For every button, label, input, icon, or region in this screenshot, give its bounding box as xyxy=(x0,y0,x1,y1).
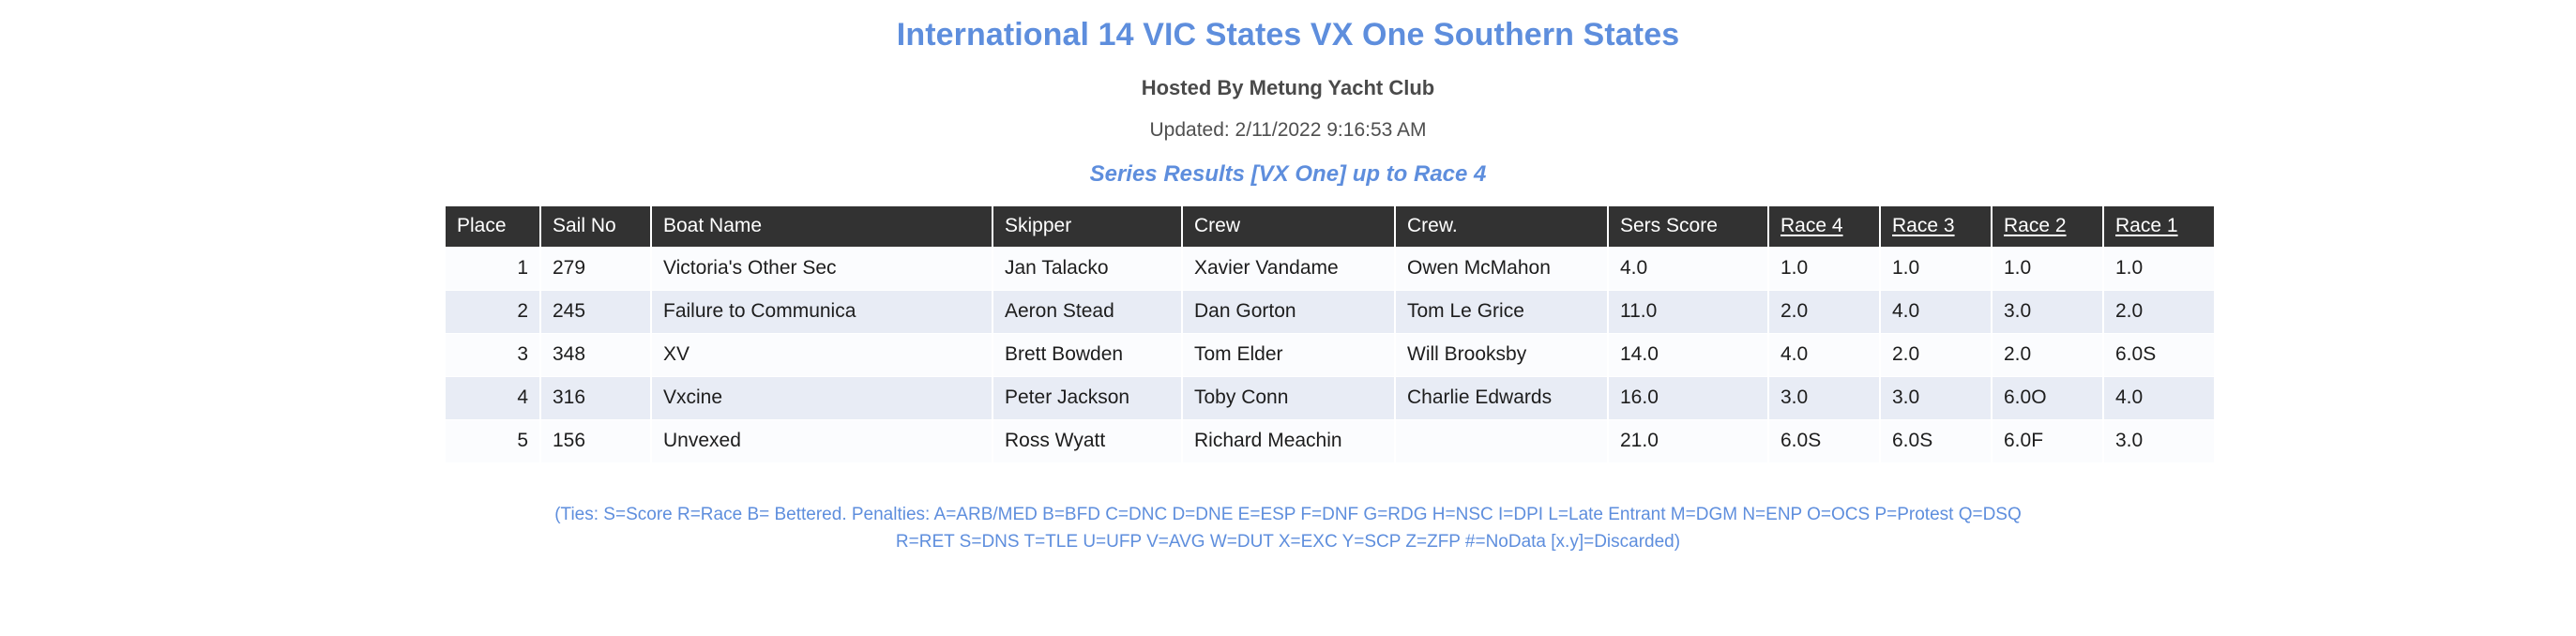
updated-timestamp: Updated: 2/11/2022 9:16:53 AM xyxy=(0,100,2576,142)
cell-race-4: 6.0S xyxy=(1769,420,1879,462)
column-header-skipper-label: Skipper xyxy=(1005,215,1071,236)
cell-race-3: 6.0S xyxy=(1881,420,1991,462)
cell-race-1: 2.0 xyxy=(2104,291,2214,333)
table-row: 2 245 Failure to Communica Aeron Stead D… xyxy=(446,291,2214,333)
cell-place: 5 xyxy=(446,420,539,462)
cell-race-3: 4.0 xyxy=(1881,291,1991,333)
column-header-crew2-label: Crew. xyxy=(1407,215,1458,236)
cell-race-1: 6.0S xyxy=(2104,334,2214,376)
host-club-line: Hosted By Metung Yacht Club xyxy=(0,55,2576,100)
cell-sers-score: 14.0 xyxy=(1609,334,1767,376)
cell-sail-no: 279 xyxy=(541,248,650,290)
column-header-skipper: Skipper xyxy=(993,206,1181,247)
cell-boat-name: Failure to Communica xyxy=(652,291,992,333)
column-header-race-1[interactable]: Race 1 xyxy=(2104,206,2214,247)
cell-race-1: 3.0 xyxy=(2104,420,2214,462)
cell-skipper: Brett Bowden xyxy=(993,334,1181,376)
column-header-sail-no: Sail No xyxy=(541,206,650,247)
cell-race-3: 3.0 xyxy=(1881,377,1991,419)
column-header-crew2: Crew. xyxy=(1396,206,1607,247)
cell-crew: Xavier Vandame xyxy=(1183,248,1394,290)
series-results-table: Place Sail No Boat Name Skipper Crew Cre… xyxy=(444,205,2216,463)
cell-crew2 xyxy=(1396,420,1607,462)
column-header-race-3[interactable]: Race 3 xyxy=(1881,206,1991,247)
table-header: Place Sail No Boat Name Skipper Crew Cre… xyxy=(446,206,2214,247)
cell-crew2: Tom Le Grice xyxy=(1396,291,1607,333)
table-row: 5 156 Unvexed Ross Wyatt Richard Meachin… xyxy=(446,420,2214,462)
cell-race-4: 4.0 xyxy=(1769,334,1879,376)
cell-boat-name: Unvexed xyxy=(652,420,992,462)
race-4-link[interactable]: Race 4 xyxy=(1780,215,1843,236)
cell-race-2: 1.0 xyxy=(1993,248,2102,290)
cell-race-2: 3.0 xyxy=(1993,291,2102,333)
column-header-sers-score: Sers Score xyxy=(1609,206,1767,247)
table-row: 3 348 XV Brett Bowden Tom Elder Will Bro… xyxy=(446,334,2214,376)
column-header-boat-name-label: Boat Name xyxy=(663,215,762,236)
cell-sers-score: 21.0 xyxy=(1609,420,1767,462)
column-header-crew-label: Crew xyxy=(1194,215,1240,236)
cell-sail-no: 316 xyxy=(541,377,650,419)
cell-race-3: 1.0 xyxy=(1881,248,1991,290)
column-header-sail-no-label: Sail No xyxy=(553,215,616,236)
cell-race-4: 1.0 xyxy=(1769,248,1879,290)
cell-crew2: Owen McMahon xyxy=(1396,248,1607,290)
series-results-caption: Series Results [VX One] up to Race 4 xyxy=(0,142,2576,188)
column-header-race-2[interactable]: Race 2 xyxy=(1993,206,2102,247)
cell-sers-score: 11.0 xyxy=(1609,291,1767,333)
table-row: 1 279 Victoria's Other Sec Jan Talacko X… xyxy=(446,248,2214,290)
cell-crew: Richard Meachin xyxy=(1183,420,1394,462)
cell-place: 4 xyxy=(446,377,539,419)
cell-crew: Dan Gorton xyxy=(1183,291,1394,333)
page-title: International 14 VIC States VX One South… xyxy=(0,9,2576,55)
cell-sail-no: 245 xyxy=(541,291,650,333)
cell-place: 2 xyxy=(446,291,539,333)
results-table-container: Place Sail No Boat Name Skipper Crew Cre… xyxy=(444,205,2132,463)
cell-boat-name: Victoria's Other Sec xyxy=(652,248,992,290)
cell-skipper: Aeron Stead xyxy=(993,291,1181,333)
table-header-row: Place Sail No Boat Name Skipper Crew Cre… xyxy=(446,206,2214,247)
cell-race-2: 6.0F xyxy=(1993,420,2102,462)
race-1-link[interactable]: Race 1 xyxy=(2115,215,2178,236)
cell-race-1: 4.0 xyxy=(2104,377,2214,419)
column-header-place: Place xyxy=(446,206,539,247)
race-3-link[interactable]: Race 3 xyxy=(1892,215,1955,236)
cell-skipper: Peter Jackson xyxy=(993,377,1181,419)
column-header-boat-name: Boat Name xyxy=(652,206,992,247)
cell-race-4: 3.0 xyxy=(1769,377,1879,419)
table-row: 4 316 Vxcine Peter Jackson Toby Conn Cha… xyxy=(446,377,2214,419)
cell-race-1: 1.0 xyxy=(2104,248,2214,290)
cell-sers-score: 4.0 xyxy=(1609,248,1767,290)
table-body: 1 279 Victoria's Other Sec Jan Talacko X… xyxy=(446,248,2214,462)
scoring-legend: (Ties: S=Score R=Race B= Bettered. Penal… xyxy=(0,463,2576,556)
legend-line-1: (Ties: S=Score R=Race B= Bettered. Penal… xyxy=(0,501,2576,528)
column-header-crew: Crew xyxy=(1183,206,1394,247)
cell-race-3: 2.0 xyxy=(1881,334,1991,376)
cell-sail-no: 348 xyxy=(541,334,650,376)
cell-race-2: 2.0 xyxy=(1993,334,2102,376)
results-page: International 14 VIC States VX One South… xyxy=(0,0,2576,636)
column-header-race-4[interactable]: Race 4 xyxy=(1769,206,1879,247)
cell-crew2: Charlie Edwards xyxy=(1396,377,1607,419)
cell-race-2: 6.0O xyxy=(1993,377,2102,419)
race-2-link[interactable]: Race 2 xyxy=(2004,215,2067,236)
column-header-place-label: Place xyxy=(457,215,507,236)
cell-skipper: Ross Wyatt xyxy=(993,420,1181,462)
cell-boat-name: Vxcine xyxy=(652,377,992,419)
legend-line-2: R=RET S=DNS T=TLE U=UFP V=AVG W=DUT X=EX… xyxy=(0,528,2576,555)
cell-sail-no: 156 xyxy=(541,420,650,462)
cell-skipper: Jan Talacko xyxy=(993,248,1181,290)
cell-crew2: Will Brooksby xyxy=(1396,334,1607,376)
cell-place: 1 xyxy=(446,248,539,290)
cell-sers-score: 16.0 xyxy=(1609,377,1767,419)
cell-boat-name: XV xyxy=(652,334,992,376)
cell-place: 3 xyxy=(446,334,539,376)
cell-crew: Tom Elder xyxy=(1183,334,1394,376)
column-header-sers-score-label: Sers Score xyxy=(1620,215,1718,236)
cell-crew: Toby Conn xyxy=(1183,377,1394,419)
cell-race-4: 2.0 xyxy=(1769,291,1879,333)
